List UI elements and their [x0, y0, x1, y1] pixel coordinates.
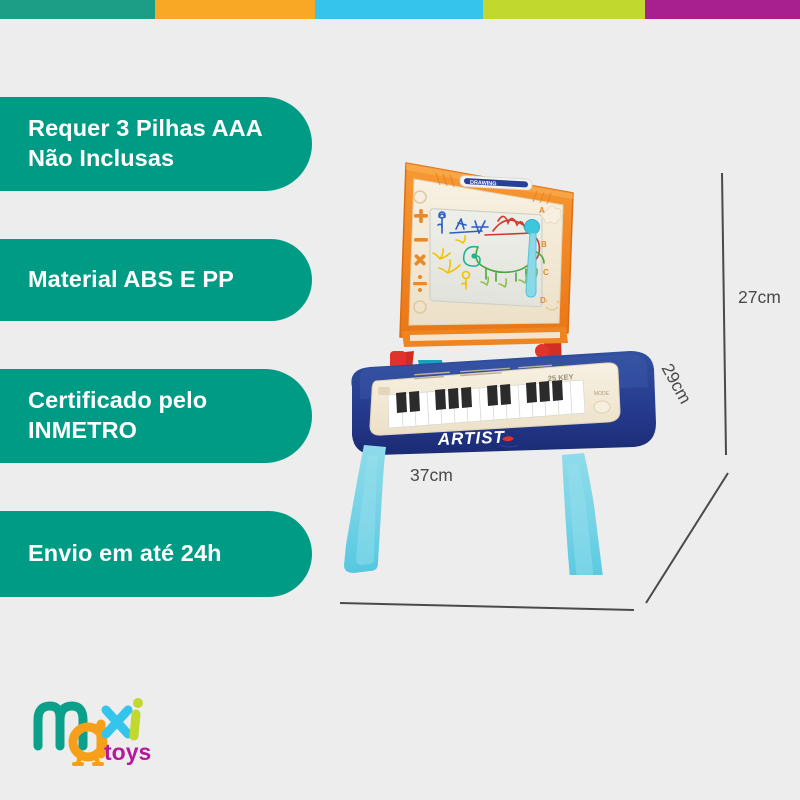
product-image: A B C D DRAWING [330, 155, 730, 575]
feature-pill-label: Requer 3 Pilhas AAA Não Inclusas [28, 114, 263, 174]
maxi-toys-logo[interactable]: toys [30, 694, 180, 766]
key-count-label: 25 KEY [548, 372, 574, 383]
top-color-bar [0, 0, 800, 19]
feature-pill-label: Material ABS E PP [28, 265, 234, 295]
width-dimension-line [340, 603, 634, 610]
feature-pill-certificate: Certificado pelo INMETRO [0, 369, 312, 463]
board-knob[interactable] [535, 344, 549, 358]
color-bar-segment-2 [315, 0, 483, 19]
volume-knob[interactable] [594, 401, 610, 413]
feature-pill-material: Material ABS E PP [0, 239, 312, 321]
svg-text:ARTIST: ARTIST [436, 428, 505, 449]
feature-pill-label: Envio em até 24h [28, 539, 222, 569]
height-label: 27cm [738, 287, 781, 308]
desk-base: 25 KEY MODE ARTIST [351, 351, 656, 455]
letter-a: A [539, 206, 545, 215]
logo-letter-a [73, 724, 103, 764]
feature-pill-shipping: Envio em até 24h [0, 511, 312, 597]
color-bar-segment-3 [483, 0, 645, 19]
color-bar-segment-4 [645, 0, 800, 19]
feature-pill-label: Certificado pelo INMETRO [28, 386, 207, 446]
minus-icon [414, 238, 428, 242]
front-legs [344, 445, 603, 575]
letter-c: C [543, 268, 549, 277]
logo-letter-x [106, 710, 128, 734]
feature-pill-batteries: Requer 3 Pilhas AAA Não Inclusas [0, 97, 312, 191]
svg-text:MODE: MODE [594, 391, 610, 397]
logo-word-toys: toys [104, 739, 151, 765]
color-bar-segment-1 [155, 0, 315, 19]
color-bar-segment-0 [0, 0, 155, 19]
speaker-grille [378, 387, 390, 395]
letter-b: B [541, 240, 547, 249]
logo-letter-i [133, 698, 143, 736]
